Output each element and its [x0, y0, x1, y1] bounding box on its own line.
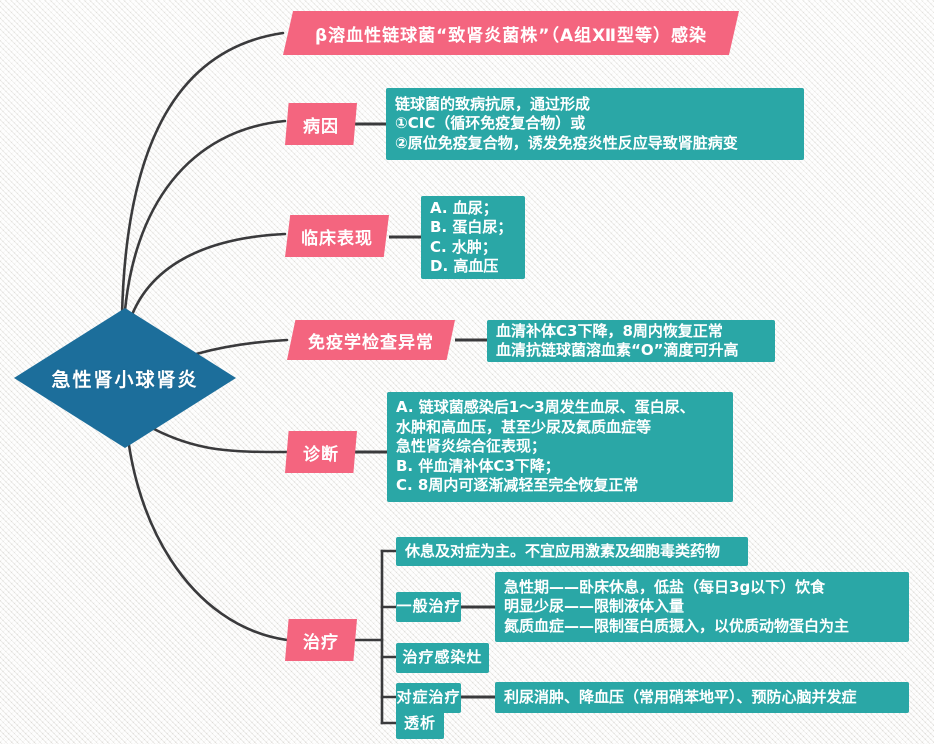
- diagnosis-line-5: C. 8周内可逐渐减轻至完全恢复正常: [396, 476, 638, 496]
- clinical-line-1: A. 血尿；: [430, 199, 498, 219]
- treatment-symptomatic-line-1: 利尿消肿、降血压（常用硝苯地平）、预防心脑并发症: [504, 688, 857, 708]
- link-root-to-cause-banner: [122, 33, 283, 316]
- treatment-general-line-2: 明显少尿——限制液体入量: [504, 597, 684, 617]
- treatment-general-label-text: 一般治疗: [397, 597, 461, 617]
- etiology-line-2: ①CIC（循环免疫复合物）或: [395, 114, 585, 134]
- root-label: 急性肾小球肾炎: [51, 365, 198, 392]
- treatment-general-label[interactable]: 一般治疗: [396, 592, 461, 622]
- treatment-label: 治疗: [303, 628, 339, 653]
- etiology-label: 病因: [303, 112, 339, 137]
- treatment-general-detail-box[interactable]: 急性期——卧床休息，低盐（每日3g以下）饮食 明显少尿——限制液体入量 氮质血症…: [495, 572, 909, 642]
- immunology-line-2: 血清抗链球菌溶血素“O”滴度可升高: [496, 341, 738, 361]
- etiology-line-3: ②原位免疫复合物，诱发免疫炎性反应导致肾脏病变: [395, 134, 738, 154]
- link-root-to-treatment: [125, 400, 287, 640]
- branch-label-diagnosis[interactable]: 诊断: [285, 431, 357, 473]
- branch-label-treatment[interactable]: 治疗: [285, 619, 357, 661]
- diagnosis-line-4: B. 伴血清补体C3下降；: [396, 457, 560, 477]
- link-root-to-clinical: [127, 234, 285, 330]
- etiology-line-1: 链球菌的致病抗原，通过形成: [395, 95, 590, 115]
- etiology-detail-box[interactable]: 链球菌的致病抗原，通过形成 ①CIC（循环免疫复合物）或 ②原位免疫复合物，诱发…: [386, 88, 804, 160]
- branch-label-immunology[interactable]: 免疫学检查异常: [287, 320, 455, 360]
- treatment-symptomatic-label-text: 对症治疗: [397, 688, 461, 708]
- immunology-line-1: 血清补体C3下降，8周内恢复正常: [496, 322, 723, 342]
- treatment-general-line-3: 氮质血症——限制蛋白质摄入，以优质动物蛋白为主: [504, 617, 849, 637]
- mindmap-canvas: 急性肾小球肾炎 β溶血性链球菌“致肾炎菌株”（A组Ⅻ型等）感染 病因 链球菌的致…: [0, 0, 934, 744]
- immunology-detail-box[interactable]: 血清补体C3下降，8周内恢复正常 血清抗链球菌溶血素“O”滴度可升高: [487, 320, 775, 362]
- link-root-to-diagnosis: [152, 428, 287, 452]
- treatment-principle-text: 休息及对症为主。不宜应用激素及细胞毒类药物: [405, 542, 720, 562]
- diagnosis-line-1: A. 链球菌感染后1～3周发生血尿、蛋白尿、: [396, 398, 695, 418]
- clinical-label: 临床表现: [301, 224, 373, 249]
- clinical-line-4: D. 高血压: [430, 257, 498, 277]
- clinical-line-2: B. 蛋白尿；: [430, 218, 512, 238]
- diagnosis-line-3: 急性肾炎综合征表现；: [396, 437, 546, 457]
- diagnosis-line-2: 水肿和高血压，甚至少尿及氮质血症等: [396, 418, 651, 438]
- diagnosis-label: 诊断: [303, 440, 339, 465]
- clinical-line-3: C. 水肿；: [430, 238, 497, 258]
- clinical-detail-box[interactable]: A. 血尿； B. 蛋白尿； C. 水肿； D. 高血压: [421, 196, 525, 279]
- treatment-symptomatic-detail-box[interactable]: 利尿消肿、降血压（常用硝苯地平）、预防心脑并发症: [495, 682, 909, 713]
- root-node[interactable]: 急性肾小球肾炎: [14, 308, 236, 448]
- treatment-dialysis-label[interactable]: 透析: [396, 709, 444, 739]
- banner-cause[interactable]: β溶血性链球菌“致肾炎菌株”（A组Ⅻ型等）感染: [283, 11, 739, 55]
- branch-label-clinical[interactable]: 临床表现: [285, 215, 389, 257]
- treatment-dialysis-label-text: 透析: [404, 714, 436, 734]
- branch-label-etiology[interactable]: 病因: [285, 103, 357, 145]
- diagnosis-detail-box[interactable]: A. 链球菌感染后1～3周发生血尿、蛋白尿、 水肿和高血压，甚至少尿及氮质血症等…: [387, 392, 733, 502]
- banner-cause-label: β溶血性链球菌“致肾炎菌株”（A组Ⅻ型等）感染: [315, 21, 707, 46]
- treatment-principle-box[interactable]: 休息及对症为主。不宜应用激素及细胞毒类药物: [396, 537, 748, 566]
- immunology-label: 免疫学检查异常: [308, 328, 434, 353]
- treatment-infection-focus-label[interactable]: 治疗感染灶: [396, 643, 489, 673]
- treatment-general-line-1: 急性期——卧床休息，低盐（每日3g以下）饮食: [504, 578, 825, 598]
- treatment-infection-focus-text: 治疗感染灶: [403, 648, 483, 668]
- link-root-to-etiology: [124, 121, 285, 322]
